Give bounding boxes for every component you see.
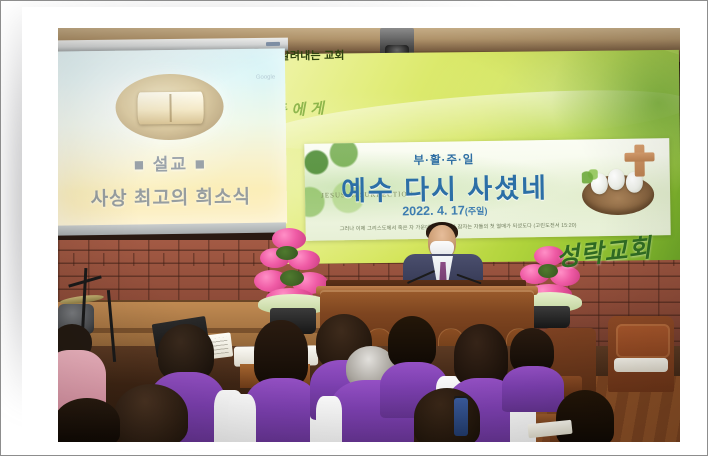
projection-screen-brand-label (266, 42, 280, 46)
photograph: Vision2022 오직 복음으로 살아내고 살려내는 교회 주 여호와께서 … (58, 28, 680, 442)
choir-robe-white (228, 394, 256, 442)
choir-robe-white (316, 396, 342, 442)
chair-cushion (614, 358, 668, 372)
choir-hair (388, 316, 436, 368)
congregant-hair (114, 384, 188, 442)
open-bible-icon (137, 92, 203, 125)
easter-date-value: 2022. 4. 17 (402, 203, 465, 218)
chair-backrest (616, 324, 670, 358)
thermos-bottle (454, 398, 468, 436)
choir-hair (454, 324, 508, 386)
sprout-icon (582, 169, 598, 183)
screenshot-root: Vision2022 오직 복음으로 살아내고 살려내는 교회 주 여호와께서 … (0, 0, 710, 458)
slide-heading: ■ 설교 ■ (58, 148, 287, 176)
flower-pot (530, 306, 570, 328)
easter-egg-icon (608, 169, 625, 190)
foliage (538, 264, 558, 278)
cross-icon (634, 145, 645, 177)
easter-date-suffix: (주일) (465, 206, 488, 216)
foliage (276, 246, 298, 260)
choir-robe-purple (502, 366, 564, 412)
congregant-hair (414, 388, 480, 442)
photo-frame-mat: Vision2022 오직 복음으로 살아내고 살려내는 교회 주 여호와께서 … (22, 7, 672, 449)
slide-watermark: Google (256, 75, 275, 81)
choir-hair (254, 320, 308, 386)
easter-banner: JESUS RESURRECTION 부·활·주·일 예수 다시 사셨네 202… (304, 138, 670, 241)
congregant-hair (58, 398, 120, 442)
foliage (280, 270, 304, 286)
slide-subheading: 사상 최고의 희소식 (58, 181, 287, 211)
projection-screen: ■ 설교 ■ 사상 최고의 희소식 Google (58, 48, 287, 226)
